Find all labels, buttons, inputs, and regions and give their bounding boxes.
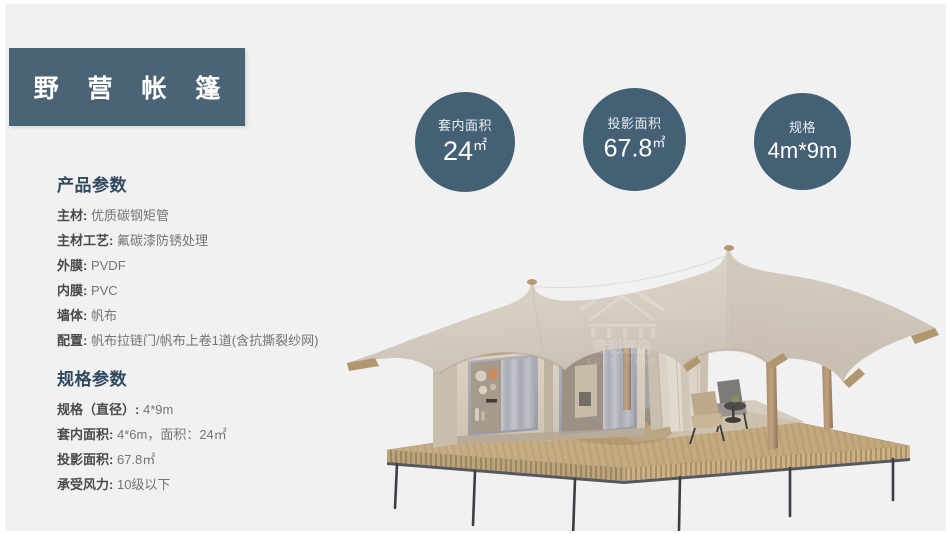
param-label: 套内面积: xyxy=(57,427,113,442)
stat-badge-label: 套内面积 xyxy=(438,119,492,132)
stat-badge-label: 规格 xyxy=(789,121,816,134)
param-value: 67.8㎡ xyxy=(117,452,155,467)
glamping-tent-illustration: 雪利篷房 XUELI TENT xyxy=(335,200,950,534)
param-label: 主材: xyxy=(57,208,87,223)
param-label: 主材工艺: xyxy=(57,233,113,248)
param-value: 4*6m，面积：24㎡ xyxy=(117,427,227,442)
param-value: 氟碳漆防锈处理 xyxy=(117,233,208,248)
stat-badge-interior-area: 套内面积 24㎡ xyxy=(415,92,515,192)
watermark-cn-text: 雪利篷房 xyxy=(592,338,652,356)
unit-superscript: ㎡ xyxy=(473,137,487,153)
param-value: PVC xyxy=(91,283,118,298)
param-value: 10级以下 xyxy=(117,477,170,492)
param-value: PVDF xyxy=(91,258,126,273)
param-value: 帆布 xyxy=(91,308,117,323)
page-title: 野 营 帐 篷 xyxy=(23,69,232,105)
stat-badge-label: 投影面积 xyxy=(607,117,661,130)
param-value: 4*9m xyxy=(143,402,173,417)
unit-superscript: ㎡ xyxy=(652,135,665,150)
stat-badge-dimensions: 规格 4m*9m xyxy=(754,93,851,190)
param-label: 内膜: xyxy=(57,283,87,298)
stat-badge-projected-area: 投影面积 67.8㎡ xyxy=(583,88,686,191)
page-title-banner: 野 营 帐 篷 xyxy=(9,48,245,126)
param-value: 优质碳钢矩管 xyxy=(91,208,169,223)
param-value: 帆布拉链门/帆布上卷1道(含抗撕裂纱网) xyxy=(91,333,319,348)
param-label: 配置: xyxy=(57,333,87,348)
watermark-en-text: XUELI TENT xyxy=(586,357,657,366)
stat-badge-value: 4m*9m xyxy=(768,140,838,162)
param-label: 承受风力: xyxy=(57,477,113,492)
stat-badge-value: 67.8㎡ xyxy=(604,136,666,161)
section-title: 产品参数 xyxy=(57,176,387,196)
stat-badge-value: 24㎡ xyxy=(443,138,487,165)
param-label: 墙体: xyxy=(57,308,87,323)
param-label: 外膜: xyxy=(57,258,87,273)
param-label: 投影面积: xyxy=(57,452,113,467)
product-spec-page: 野 营 帐 篷 产品参数 主材: 优质碳钢矩管 主材工艺: 氟碳漆防锈处理 外膜… xyxy=(0,0,950,534)
param-label: 规格（直径）: xyxy=(57,402,139,417)
